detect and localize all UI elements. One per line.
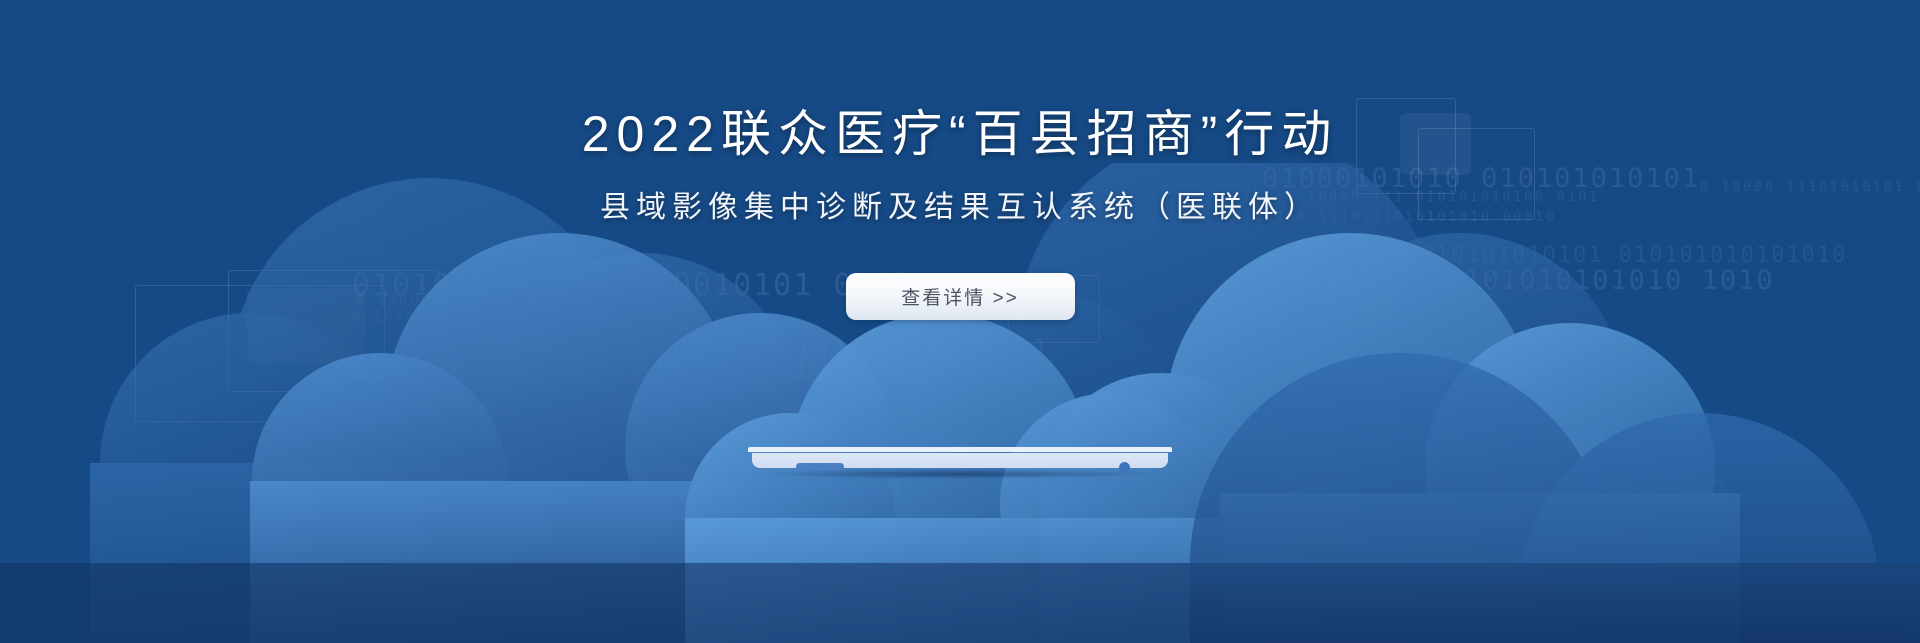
device-shadow (762, 469, 1158, 479)
promo-banner: 01010101000101010010101 0110 0 10000 111… (0, 0, 1920, 643)
banner-content: 2022联众医疗“百县招商”行动 县域影像集中诊断及结果互认系统（医联体） 查看… (0, 0, 1920, 643)
device-screen-edge (748, 447, 1172, 452)
device-indicator-dot-icon (1119, 462, 1130, 473)
page-subtitle: 县域影像集中诊断及结果互认系统（医联体） (600, 193, 1320, 223)
laptop-device-icon (748, 447, 1172, 471)
page-title: 2022联众医疗“百县招商”行动 (582, 109, 1339, 159)
view-details-button[interactable]: 查看详情 >> (846, 273, 1075, 320)
device-base (752, 453, 1168, 468)
device-port-icon (796, 463, 844, 470)
